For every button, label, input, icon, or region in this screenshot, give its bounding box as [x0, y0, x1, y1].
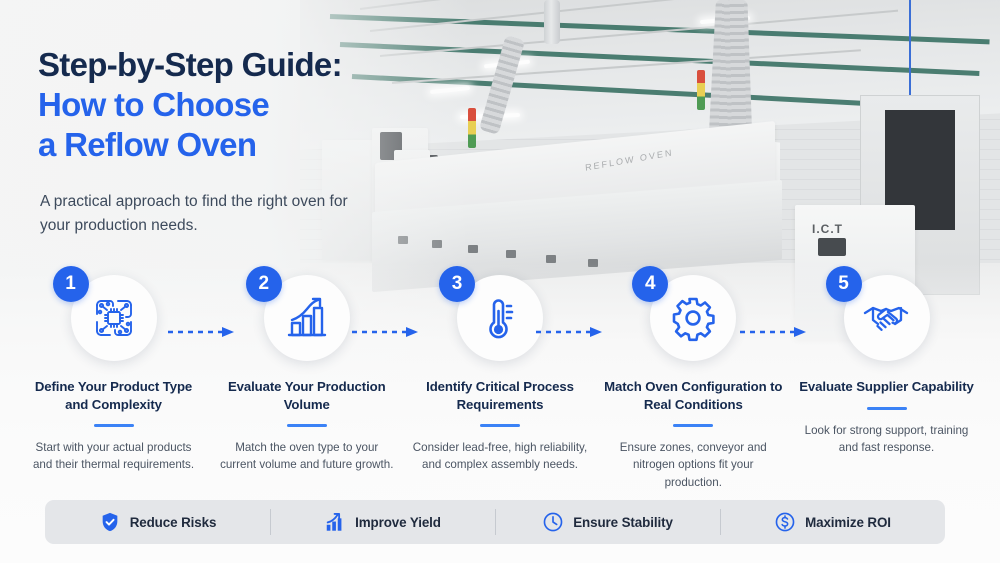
step-4-number-badge: 4 [632, 266, 668, 302]
subtitle-text: A practical approach to find the right o… [40, 190, 370, 238]
step-2-number-badge: 2 [246, 266, 282, 302]
step-3-description: Consider lead-free, high reliability, an… [409, 439, 592, 474]
step-item-3[interactable]: 3 Identify Critical Process Requirements… [409, 272, 592, 482]
benefit-item-ensure-stability[interactable]: Ensure Stability [495, 500, 720, 544]
step-5-description: Look for strong support, training and fa… [795, 422, 978, 457]
step-item-5[interactable]: 5 Evaluate Supplier Capability Look for … [795, 272, 978, 482]
step-item-2[interactable]: 2 Evaluate Your Production Volume Match … [215, 272, 398, 482]
shield-check-icon [99, 511, 121, 533]
benefit-label-maximize-roi: Maximize ROI [805, 515, 891, 530]
benefit-label-reduce-risks: Reduce Risks [130, 515, 217, 530]
photo-duct [544, 0, 560, 44]
headline-line-1: Step-by-Step Guide: [38, 46, 458, 85]
photo-cable [909, 0, 911, 108]
benefit-label-ensure-stability: Ensure Stability [573, 515, 673, 530]
step-arrow-3-to-4 [536, 326, 608, 338]
photo-stack-light [697, 70, 705, 110]
thermometer-icon [476, 294, 524, 342]
benefit-item-reduce-risks[interactable]: Reduce Risks [45, 500, 270, 544]
step-arrow-2-to-3 [352, 326, 424, 338]
benefit-item-maximize-roi[interactable]: Maximize ROI [720, 500, 945, 544]
step-4-divider [673, 424, 713, 427]
step-2-circle-wrap: 2 [215, 272, 398, 372]
photo-oven-panel [546, 255, 556, 263]
steps-row: 1 [0, 272, 1000, 482]
step-1-number-badge: 1 [53, 266, 89, 302]
step-1-circle-wrap: 1 [22, 272, 205, 372]
step-1-divider [94, 424, 134, 427]
step-1-description: Start with your actual products and thei… [22, 439, 205, 474]
step-5-number-badge: 5 [826, 266, 862, 302]
step-arrow-1-to-2 [168, 326, 240, 338]
step-3-title: Identify Critical Process Requirements [409, 378, 592, 413]
clock-icon [542, 511, 564, 533]
photo-oven-panel [506, 250, 516, 258]
microchip-circuit-icon [89, 293, 139, 343]
step-4-title: Match Oven Configuration to Real Conditi… [602, 378, 785, 413]
benefit-item-improve-yield[interactable]: Improve Yield [270, 500, 495, 544]
headline-line-3: a Reflow Oven [38, 125, 458, 165]
step-2-divider [287, 424, 327, 427]
photo-brand-label: I.C.T [812, 222, 843, 236]
step-4-description: Ensure zones, conveyor and nitrogen opti… [602, 439, 785, 491]
dollar-circle-icon [774, 511, 796, 533]
benefit-label-improve-yield: Improve Yield [355, 515, 441, 530]
step-4-circle-wrap: 4 [602, 272, 785, 372]
bar-chart-growth-icon [283, 294, 331, 342]
step-3-divider [480, 424, 520, 427]
step-5-title: Evaluate Supplier Capability [795, 378, 978, 396]
step-item-4[interactable]: 4 Match Oven Configuration to Real Condi… [602, 272, 785, 482]
step-1-title: Define Your Product Type and Complexity [22, 378, 205, 413]
bar-chart-arrow-icon [324, 511, 346, 533]
headline-line-2: How to Choose [38, 85, 458, 125]
step-2-title: Evaluate Your Production Volume [215, 378, 398, 413]
step-5-circle-wrap: 5 [795, 272, 978, 372]
step-3-number-badge: 3 [439, 266, 475, 302]
step-5-divider [867, 407, 907, 410]
step-arrow-4-to-5 [740, 326, 812, 338]
photo-ict-screen [818, 238, 846, 256]
gear-icon [669, 294, 717, 342]
step-item-1[interactable]: 1 [22, 272, 205, 482]
step-2-description: Match the oven type to your current volu… [215, 439, 398, 474]
benefits-bar: Reduce Risks Improve Yield Ensure Stabil… [45, 500, 945, 544]
headline-block: Step-by-Step Guide: How to Choose a Refl… [38, 46, 458, 164]
step-3-circle-wrap: 3 [409, 272, 592, 372]
handshake-icon [861, 292, 913, 344]
